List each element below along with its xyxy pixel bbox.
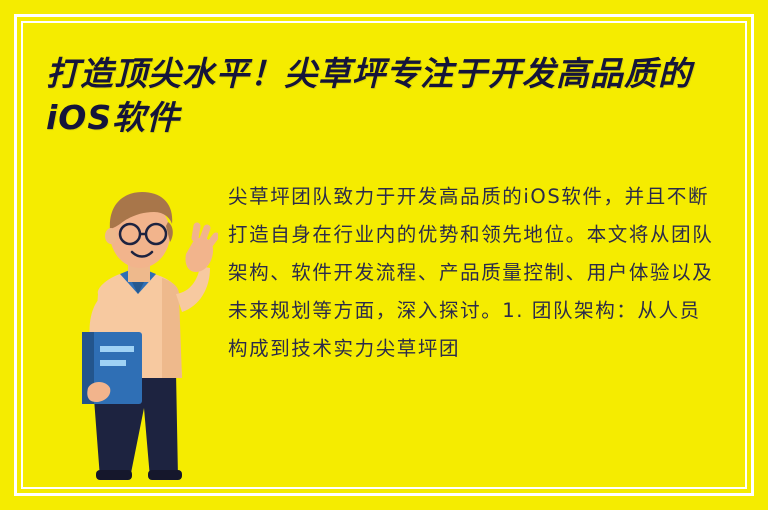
page-title: 打造顶尖水平！尖草坪专注于开发高品质的iOS软件 xyxy=(46,52,726,140)
body-paragraph: 尖草坪团队致力于开发高品质的iOS软件，并且不断打造自身在行业内的优势和领先地位… xyxy=(228,178,718,368)
illustration-man-waving-with-book xyxy=(58,182,218,482)
poster-page: 打造顶尖水平！尖草坪专注于开发高品质的iOS软件 xyxy=(0,0,768,510)
